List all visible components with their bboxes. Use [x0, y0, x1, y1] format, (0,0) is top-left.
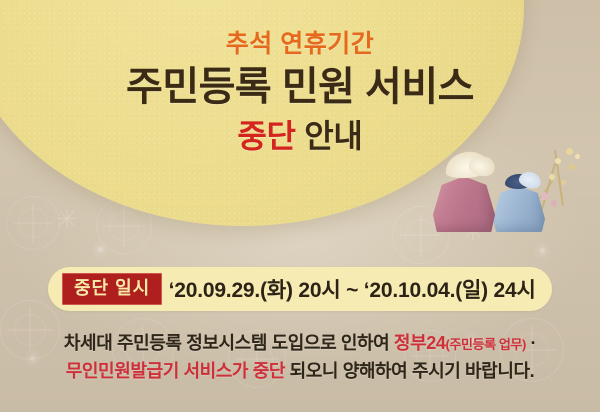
page-title: 주민등록 민원 서비스 — [0, 64, 600, 110]
blossom-icon — [555, 158, 561, 164]
eyebrow-text: 추석 연휴기간 — [0, 24, 600, 60]
blossom-icon — [561, 180, 566, 185]
sparkle-icon — [540, 248, 545, 253]
blossom-icon — [551, 200, 557, 207]
bojagi-pink — [433, 170, 495, 232]
blossom-icon — [575, 154, 580, 159]
subtitle-stop-word: 중단 — [237, 118, 295, 154]
bojagi-blue — [493, 182, 545, 232]
medallion-ornament-icon — [6, 196, 60, 250]
bojagi-gift-illustration — [425, 148, 600, 240]
status-badge: 중단 일시 — [62, 273, 162, 305]
subtitle-rest: 안내 — [296, 118, 363, 154]
suspension-date-band: 중단 일시 ‘20.09.29.(화) 20시 ~ ‘20.10.04.(일) … — [48, 267, 552, 311]
description-line-2: 무인민원발급기 서비스가 중단 되오니 양해하여 주시기 바랍니다. — [0, 358, 600, 386]
blossom-icon — [549, 174, 555, 180]
description-highlight-gov24: 정부24 — [394, 333, 446, 353]
suspension-date-value: ‘20.09.29.(화) 20시 ~ ‘20.10.04.(일) 24시 — [162, 274, 552, 304]
description-line-1-suffix: · — [526, 333, 536, 353]
description-highlight-kiosk: 무인민원발급기 서비스가 중단 — [66, 361, 285, 381]
description-block: 차세대 주민등록 정보시스템 도입으로 인하여 정부24(주민등록 업무) · … — [0, 330, 600, 386]
description-highlight-gov24-note: (주민등록 업무) — [445, 337, 525, 352]
description-line-2-plain: 되오니 양해하여 주시기 바랍니다. — [285, 361, 534, 381]
blossom-icon — [569, 164, 575, 170]
description-line-1-prefix: 차세대 주민등록 정보시스템 도입으로 인하여 — [64, 333, 394, 353]
blossom-icon — [566, 148, 573, 155]
holiday-service-suspension-banner: ✳ ✳ 추석 연휴기간 주민등록 민원 서비스 중단 안내 — [0, 0, 600, 412]
starburst-icon: ✳ — [56, 206, 78, 232]
description-line-1: 차세대 주민등록 정보시스템 도입으로 인하여 정부24(주민등록 업무) · — [0, 330, 600, 358]
sparkle-icon — [98, 247, 103, 252]
blossom-icon — [541, 192, 548, 200]
headline-block: 추석 연휴기간 주민등록 민원 서비스 중단 안내 — [0, 24, 600, 158]
